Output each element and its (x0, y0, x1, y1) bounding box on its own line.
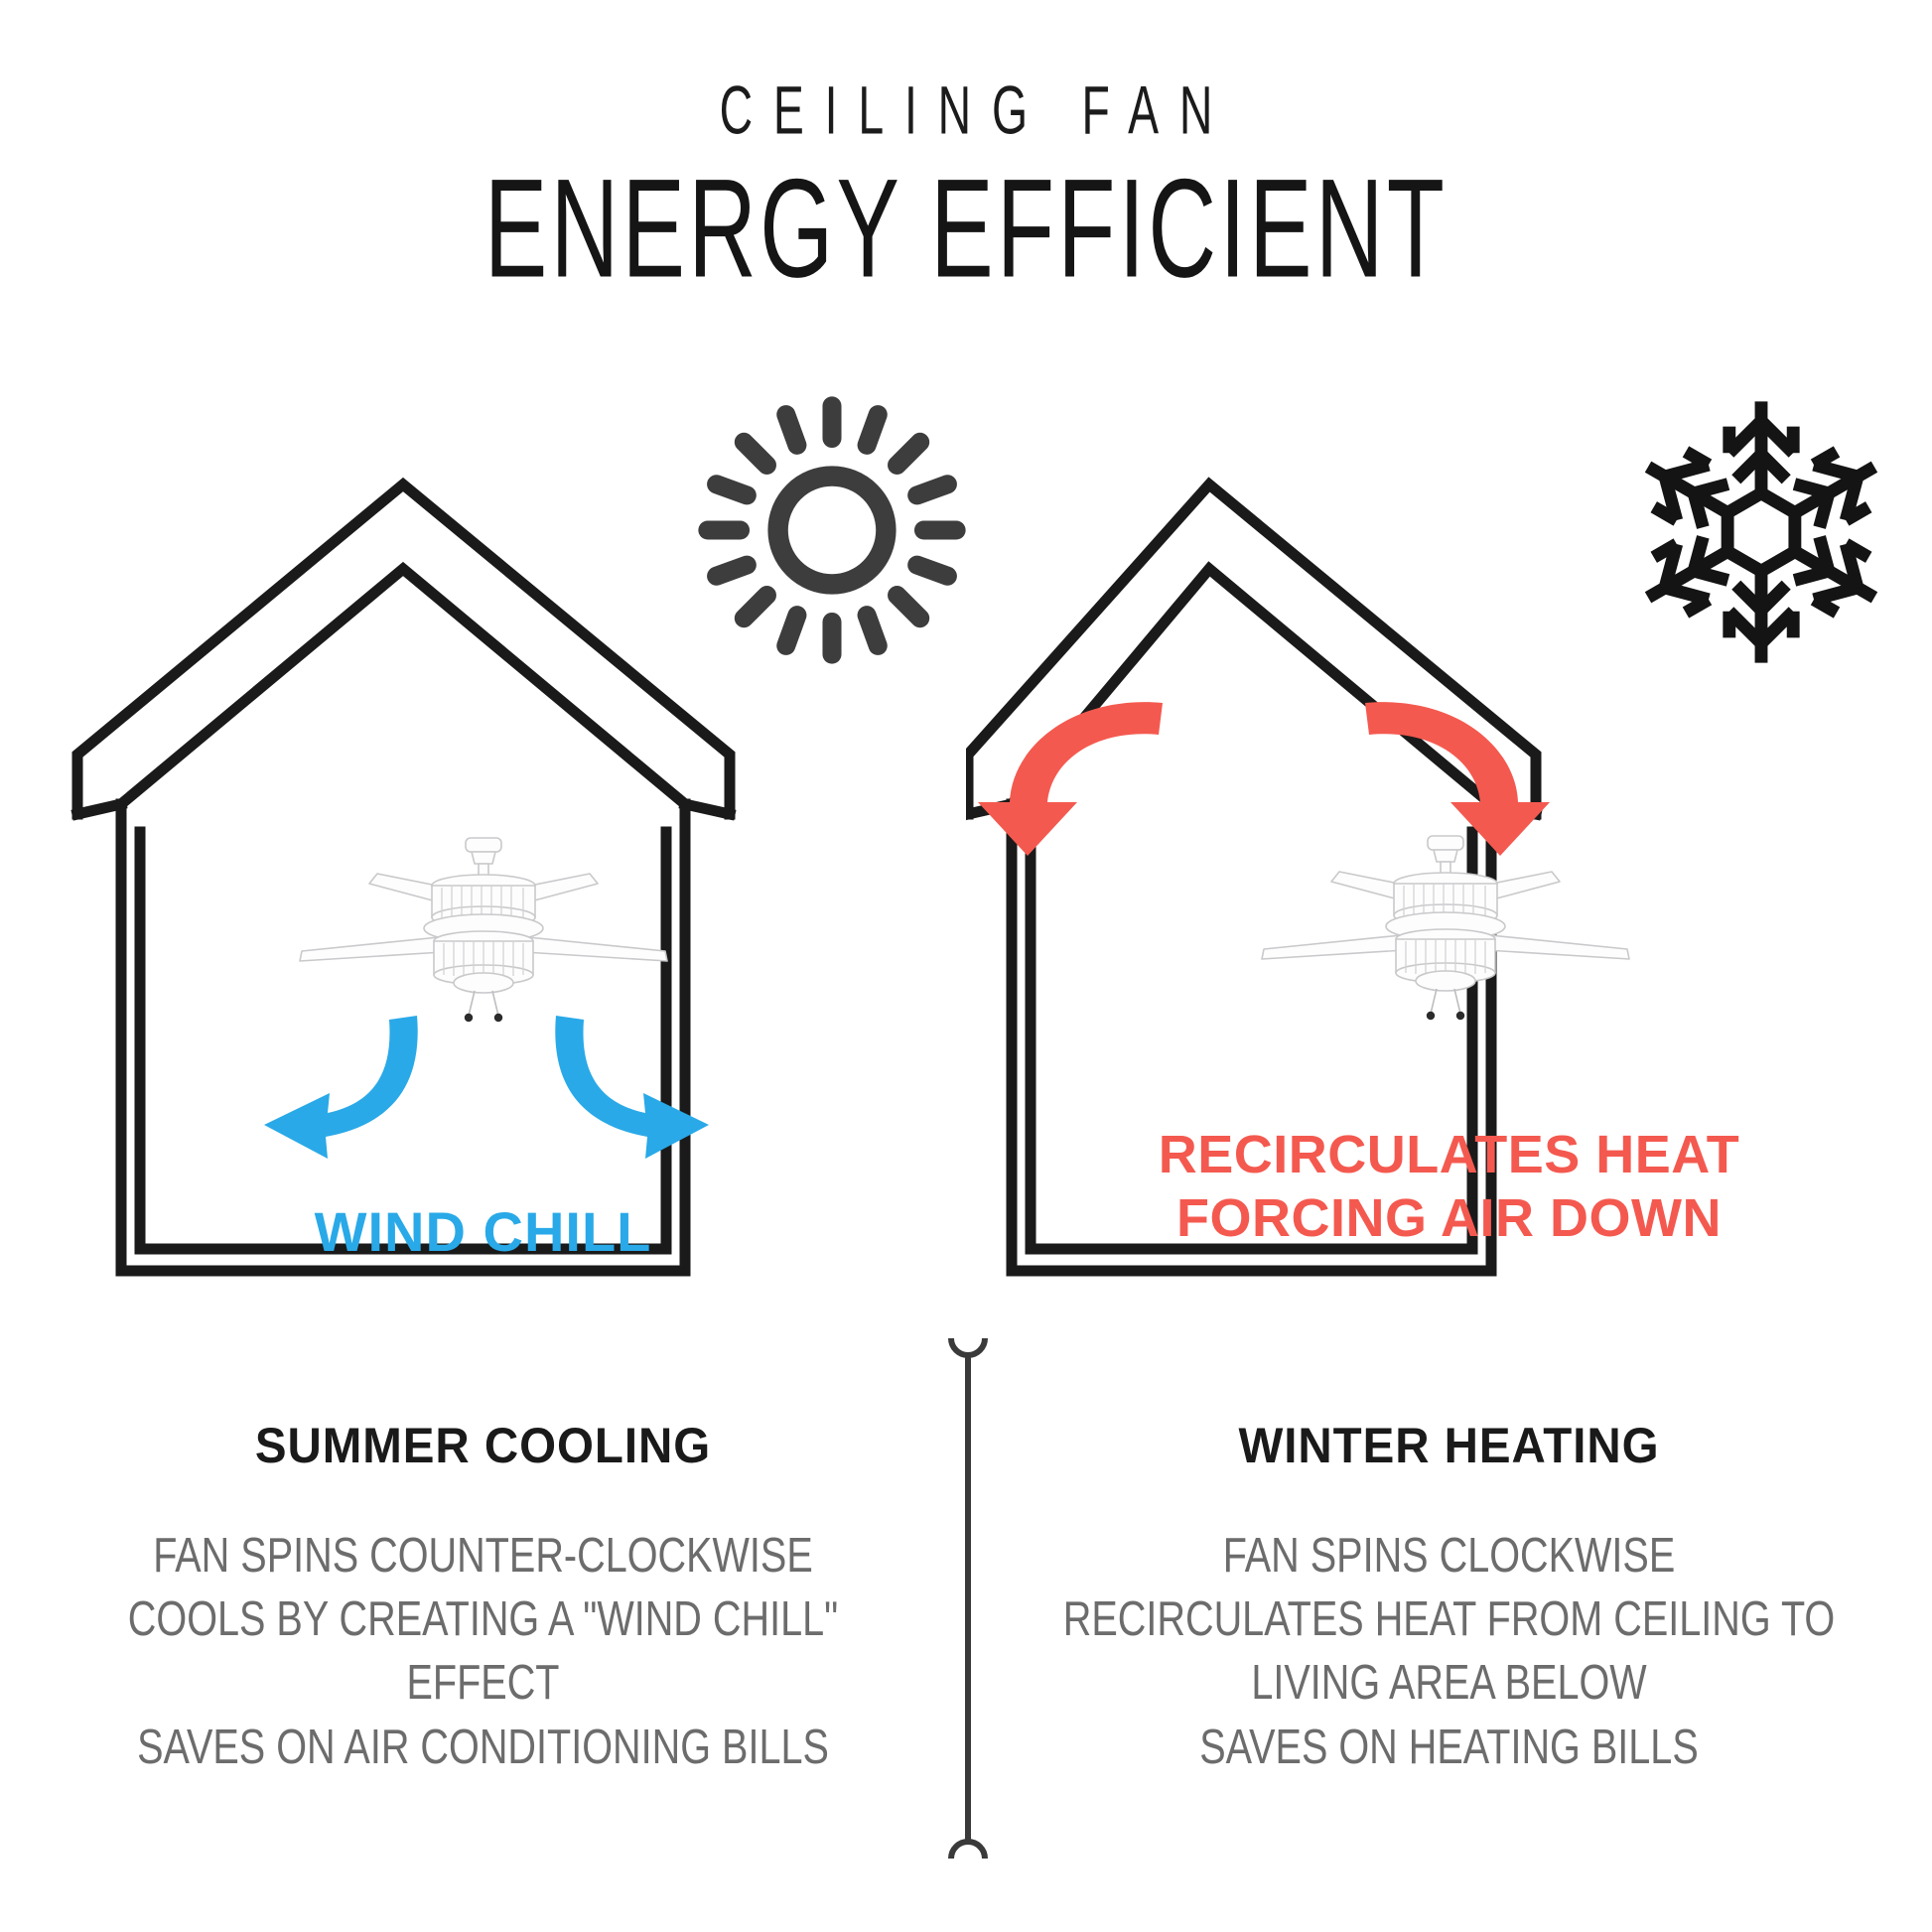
airflow-arrows-summer (179, 1008, 794, 1226)
body-line: LIVING AREA BELOW (1041, 1651, 1858, 1715)
body-line: COOLS BY CREATING A "WIND CHILL" (75, 1587, 892, 1651)
body-line: FAN SPINS CLOCKWISE (1041, 1524, 1858, 1587)
body-copy-winter: FAN SPINS CLOCKWISE RECIRCULATES HEAT FR… (1041, 1524, 1858, 1778)
body-line: EFFECT (75, 1651, 892, 1715)
callout-line-1: RECIRCULATES HEAT (966, 1124, 1932, 1187)
callout-line-2: FORCING AIR DOWN (966, 1187, 1932, 1251)
body-line: RECIRCULATES HEAT FROM CEILING TO (1041, 1587, 1858, 1651)
callout-winter: RECIRCULATES HEAT FORCING AIR DOWN (966, 1124, 1932, 1250)
section-title-winter: WINTER HEATING (990, 1417, 1907, 1474)
panel-winter-heating: RECIRCULATES HEAT FORCING AIR DOWN WINTE… (966, 0, 1932, 1932)
body-line: FAN SPINS COUNTER-CLOCKWISE (75, 1524, 892, 1587)
infographic-poster: CEILING FAN ENERGY EFFICIENT (0, 0, 1932, 1932)
section-title-summer: SUMMER COOLING (24, 1417, 941, 1474)
vertical-divider (933, 1330, 1003, 1866)
callout-summer: WIND CHILL (0, 1199, 966, 1265)
body-line: SAVES ON AIR CONDITIONING BILLS (75, 1715, 892, 1778)
body-line: SAVES ON HEATING BILLS (1041, 1715, 1858, 1778)
body-copy-summer: FAN SPINS COUNTER-CLOCKWISE COOLS BY CRE… (75, 1524, 892, 1778)
airflow-arrows-winter (956, 685, 1572, 874)
ceiling-fan-illustration (270, 834, 697, 1023)
panel-summer-cooling: WIND CHILL SUMMER COOLING FAN SPINS COUN… (0, 0, 966, 1932)
